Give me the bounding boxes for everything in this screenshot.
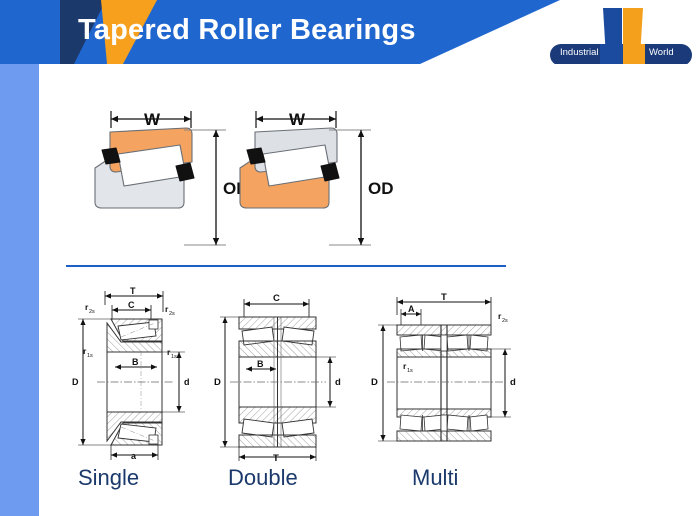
slide-root: Tapered Roller Bearings Industrial World… [0, 0, 700, 516]
single-label-r1s-right-sub: 1s [171, 354, 177, 360]
cone-od-label: OD [368, 179, 394, 198]
double-label-T: T [273, 453, 279, 464]
figure-single-row-bearing: T C r 2s r 2s [61, 279, 221, 464]
single-label-B: B [132, 357, 139, 367]
single-label-d: d [184, 377, 190, 387]
double-label-D: D [214, 377, 221, 388]
single-label-r1s-left-sub: 1s [87, 353, 93, 359]
double-label-d: d [335, 377, 341, 388]
page-title: Tapered Roller Bearings [78, 14, 416, 47]
single-label-C: C [128, 300, 135, 310]
logo-text-industrial: Industrial [560, 47, 599, 58]
multi-label-d: d [510, 377, 516, 388]
double-label-B: B [257, 359, 264, 369]
figure-caption-single: Single [78, 465, 139, 491]
multi-label-D: D [371, 377, 378, 388]
single-label-D: D [72, 377, 79, 387]
figure-caption-double: Double [228, 465, 298, 491]
multi-label-r2s-sub: 2s [502, 318, 508, 324]
figure-double-row-bearing: C [206, 279, 371, 464]
multi-label-T: T [441, 292, 447, 303]
single-label-a: a [131, 451, 137, 461]
single-label-T: T [130, 286, 136, 296]
figure-caption-multi: Multi [412, 465, 458, 491]
single-label-r2s-right-sub: 2s [169, 311, 175, 317]
multi-label-A: A [408, 304, 415, 314]
logo-text-world: World [649, 47, 674, 58]
figure-multi-row-bearing: T A r 2s [359, 279, 539, 464]
multi-label-r1s-sub: 1s [407, 368, 413, 374]
logo-bar-overlay-left [600, 44, 623, 66]
cone-width-label: W [289, 110, 306, 129]
double-label-C: C [273, 293, 280, 304]
figure-cone: W OD [211, 98, 401, 278]
logo-bar-overlay-right [623, 44, 645, 66]
cup-width-label: W [144, 110, 161, 129]
section-divider [66, 265, 506, 267]
single-label-r2s-left-sub: 2s [89, 309, 95, 315]
left-sidebar-band [0, 64, 39, 516]
slide-content: Cup Cone W [41, 64, 700, 516]
